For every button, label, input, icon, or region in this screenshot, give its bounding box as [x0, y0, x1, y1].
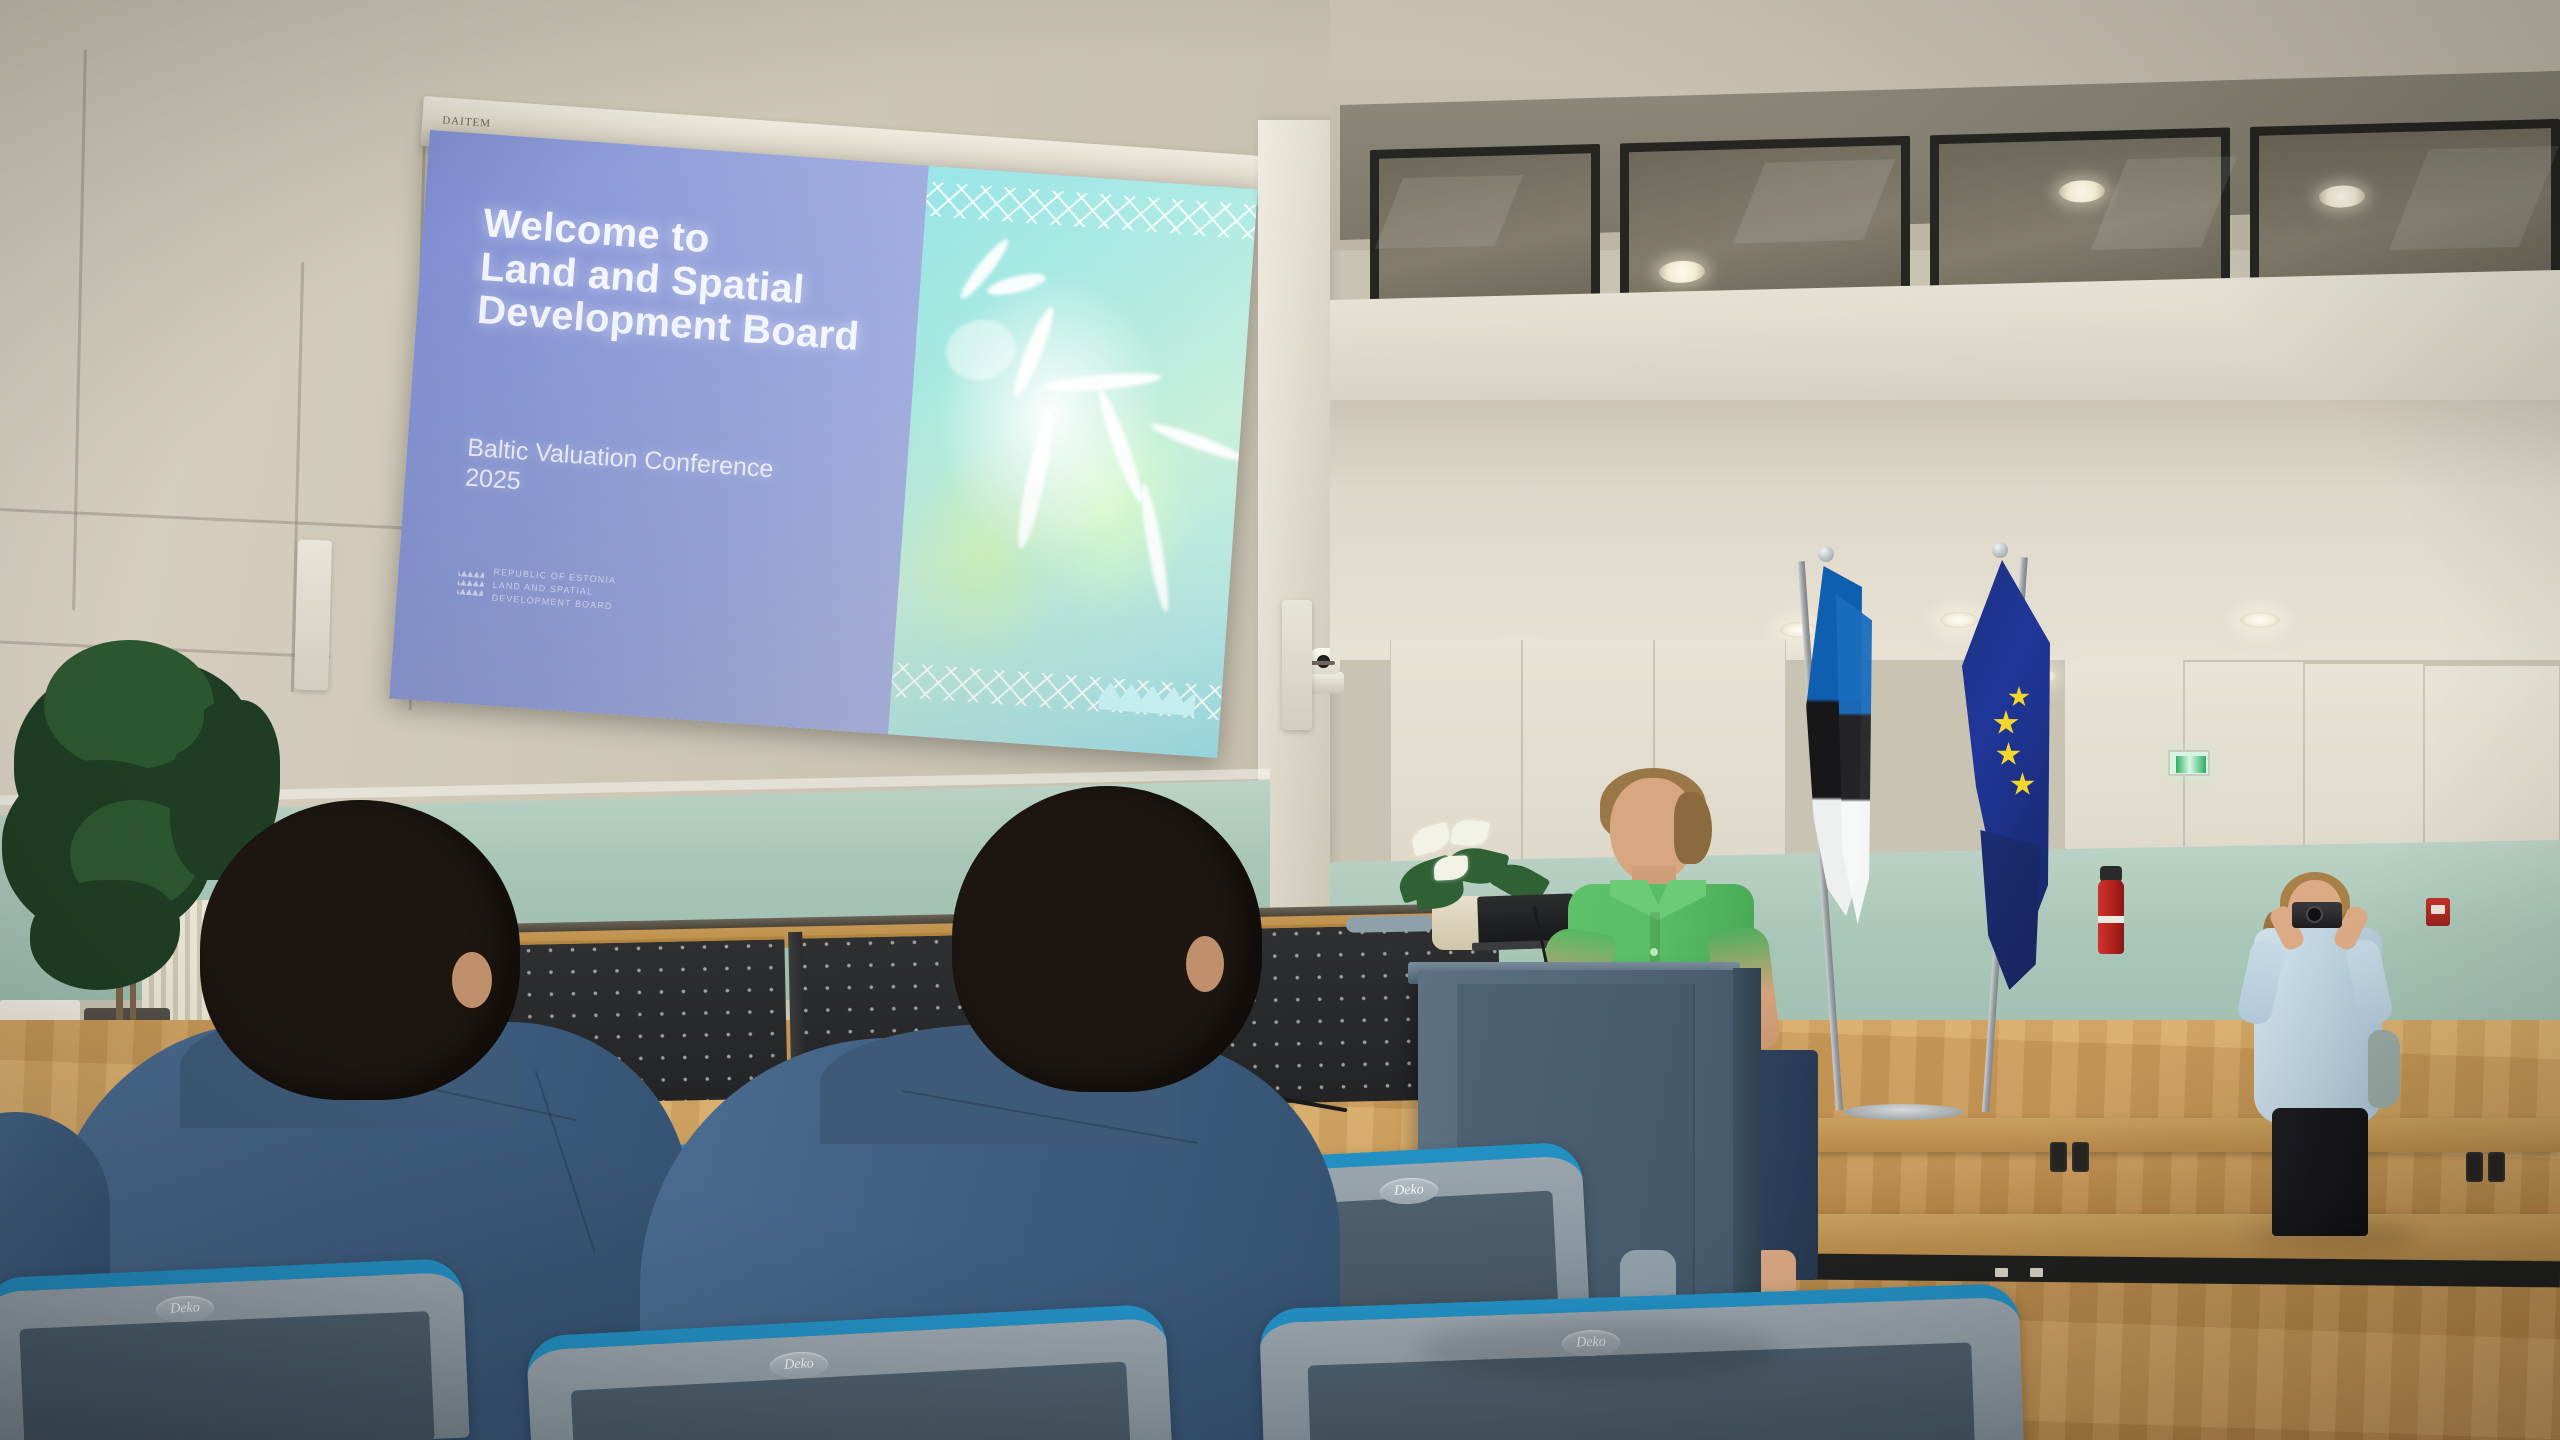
- desk-chair-back: [1346, 915, 1434, 933]
- camera-lens-icon: [2306, 906, 2323, 923]
- soffit-downlight: [2240, 612, 2280, 628]
- slide-logo-text: Republic of Estonia Land and Spatial Dev…: [491, 566, 616, 613]
- fire-alarm-icon: [2426, 898, 2450, 926]
- podium-side-panel: [1733, 968, 1761, 1340]
- flagpole-finial: [1992, 542, 2008, 558]
- housing-brand-label: DAITEM: [442, 114, 492, 129]
- presenter-hair-side: [1674, 792, 1712, 864]
- photographer-legs: [2272, 1108, 2368, 1236]
- power-outlet: [2050, 1142, 2067, 1172]
- emergency-exit-sign-icon: [2168, 750, 2210, 776]
- power-outlet: [2466, 1152, 2483, 1182]
- projection-screen: Welcome to Land and Spatial Development …: [389, 130, 1258, 758]
- attendee-left-head: [200, 800, 520, 1100]
- stage-platform: [1740, 1140, 2560, 1220]
- slide-subtitle: Baltic Valuation Conference 2025: [464, 434, 774, 515]
- wall-speaker: [294, 540, 332, 691]
- slide-map-image: [888, 166, 1258, 758]
- soffit-downlight: [1940, 612, 1978, 628]
- power-outlet: [2072, 1142, 2089, 1172]
- flagpole-base: [1843, 1104, 1963, 1120]
- floor-socket: [1995, 1268, 2008, 1277]
- power-outlet: [2488, 1152, 2505, 1182]
- slide-organisation-logo: Republic of Estonia Land and Spatial Dev…: [456, 563, 616, 612]
- wall-speaker: [1282, 600, 1312, 730]
- conference-hall-photo: DAITEM Welcome to Land and Spatial Devel…: [0, 0, 2560, 1440]
- floor-socket: [2030, 1268, 2043, 1277]
- zigzag-pattern-top: [915, 181, 1258, 240]
- soffit-downlight: [1780, 622, 1818, 638]
- stage-step-upper: [1740, 1118, 2560, 1152]
- attendee-center-head: [952, 786, 1262, 1092]
- flagpole-finial: [1818, 546, 1834, 562]
- shoulder-bag: [2368, 1030, 2400, 1108]
- slide-title: Welcome to Land and Spatial Development …: [476, 202, 867, 360]
- estonia-emblem-icon: [457, 570, 485, 596]
